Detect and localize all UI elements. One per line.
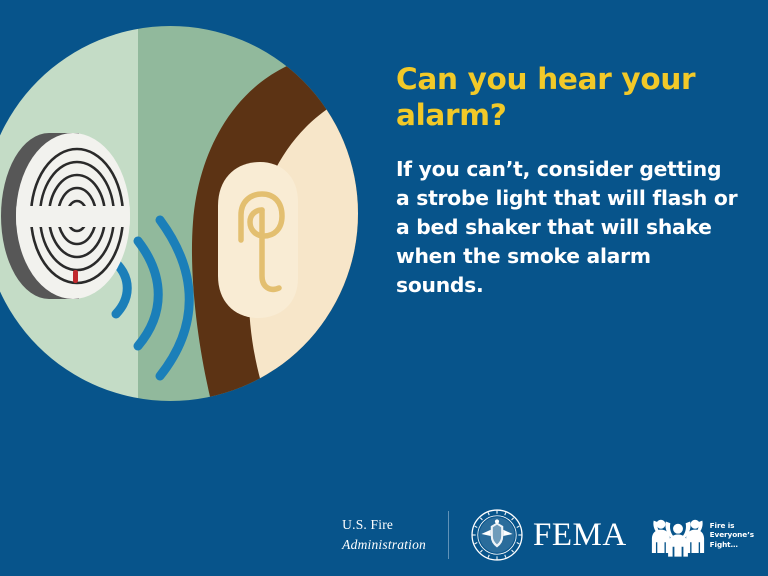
feif-line3: Fight… xyxy=(710,540,754,549)
illustration-smoke-alarm-and-ear xyxy=(0,26,358,401)
fire-is-everyones-fight-icon xyxy=(651,512,705,558)
dhs-seal-icon xyxy=(471,509,523,561)
ear-shape xyxy=(218,162,298,318)
footer-divider xyxy=(448,511,449,559)
fema-logo-group[interactable]: FEMA xyxy=(471,509,651,561)
message-column: Can you hear your alarm? If you can’t, c… xyxy=(396,62,744,299)
poster-canvas: Can you hear your alarm? If you can’t, c… xyxy=(0,0,768,576)
illustration-circle-group xyxy=(0,26,358,401)
usfa-wordmark-line1: U.S. Fire xyxy=(342,515,426,535)
alarm-led-indicator xyxy=(73,270,78,283)
body-copy: If you can’t, consider getting a strobe … xyxy=(396,133,741,299)
feif-line2: Everyone’s xyxy=(710,530,754,539)
usfa-logo-group[interactable]: U.S. Fire Administration xyxy=(342,511,471,559)
feif-line1: Fire is xyxy=(710,521,754,530)
headline: Can you hear your alarm? xyxy=(396,62,726,133)
fema-wordmark: FEMA xyxy=(523,519,651,552)
ear-illustration xyxy=(218,162,298,318)
usfa-wordmark: U.S. Fire Administration xyxy=(342,515,448,554)
footer-logo-bar: U.S. Fire Administration xyxy=(0,494,768,576)
illustration-svg xyxy=(0,26,358,401)
fire-is-everyones-fight-logo-group[interactable]: Fire is Everyone’s Fight… xyxy=(651,512,754,558)
usfa-wordmark-line2: Administration xyxy=(342,535,426,555)
fire-is-everyones-fight-wordmark: Fire is Everyone’s Fight… xyxy=(705,521,754,548)
